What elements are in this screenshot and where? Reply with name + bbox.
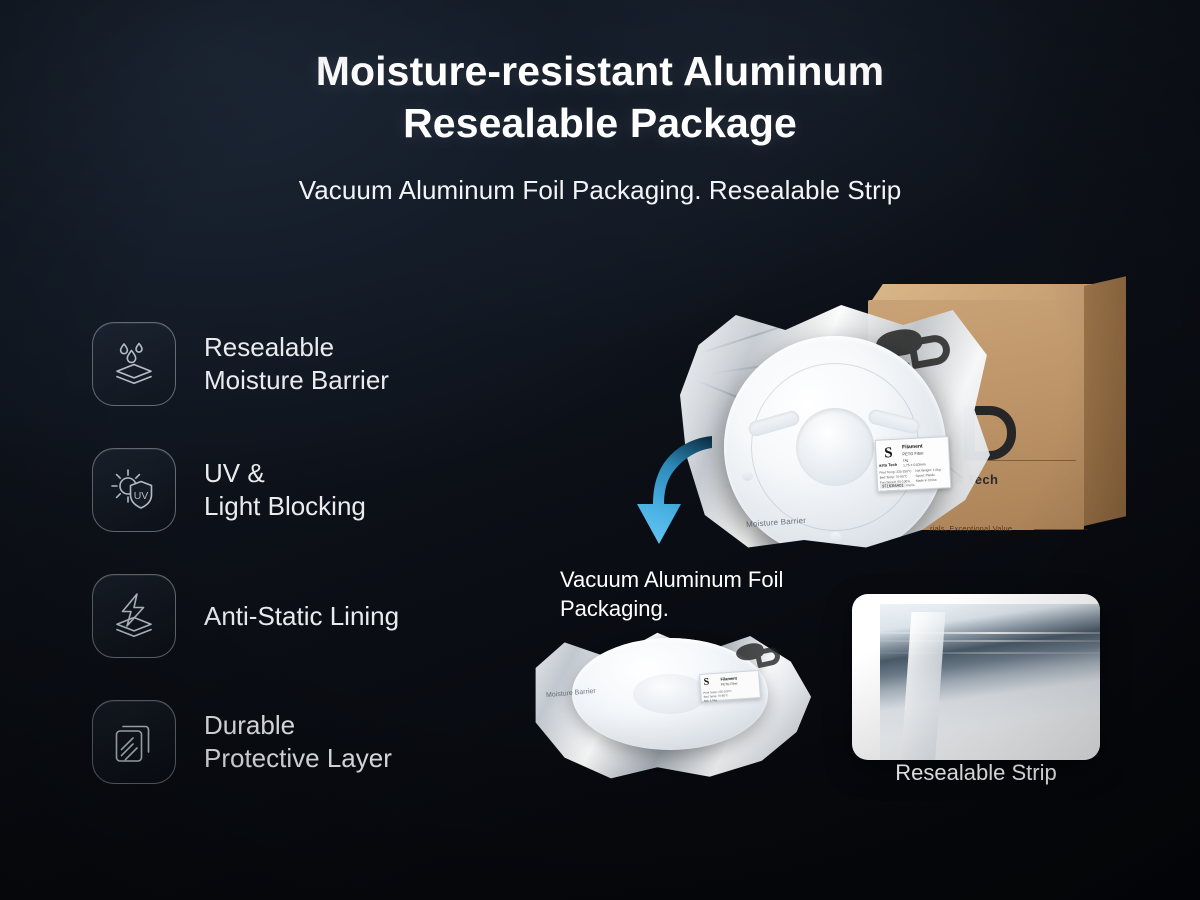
- bag-front-edge: [901, 612, 946, 760]
- vacuum-spool-hub: [633, 674, 707, 714]
- poster-canvas: Moisture-resistant Aluminum Resealable P…: [0, 0, 1200, 900]
- lightning-bolt-on-layers-icon: [92, 574, 176, 658]
- stacked-sheets-shine-icon: [92, 700, 176, 784]
- feature-label: UV & Light Blocking: [204, 457, 366, 523]
- title-line-1: Moisture-resistant Aluminum: [0, 46, 1200, 98]
- feature-item-moisture-barrier: Resealable Moisture Barrier: [92, 322, 512, 406]
- feature-item-uv-light-blocking: UV UV & Light Blocking: [92, 448, 512, 532]
- spool-product-label: S asta Tech Filament PETG Fiber 1kg 1.75…: [875, 436, 952, 492]
- feature-list: Resealable Moisture Barrier UV UV & Ligh…: [92, 322, 512, 784]
- feature-item-anti-static-lining: Anti-Static Lining: [92, 574, 512, 658]
- hero-product-photo: A Tech rials, Exceptional Value Tech: [672, 276, 1132, 576]
- title-line-2: Resealable Package: [0, 98, 1200, 150]
- label-brand: asta Tech: [879, 462, 897, 468]
- label-spec: 1.75 ± 0.03mm: [903, 462, 926, 467]
- resealable-strip-card: [852, 594, 1100, 760]
- label-weight: 1kg: [903, 458, 909, 462]
- label-title: Filament: [902, 443, 923, 450]
- feature-label: Durable Protective Layer: [204, 709, 392, 775]
- resealable-strip-caption: Resealable Strip: [852, 760, 1100, 786]
- vacuum-label-subtitle: PETG Fiber: [721, 681, 738, 686]
- feature-label: Resealable Moisture Barrier: [204, 331, 389, 397]
- curved-down-arrow: [626, 432, 716, 552]
- box-side-face: [1084, 276, 1126, 526]
- resealable-strip-photo: [880, 604, 1100, 760]
- vacuum-label-logo: S: [703, 677, 709, 687]
- vacuum-pack-caption: Vacuum Aluminum Foil Packaging.: [560, 566, 810, 623]
- feature-label: Anti-Static Lining: [204, 600, 399, 633]
- vacuum-foil-printed-logo: [734, 642, 782, 672]
- feature-item-durable-protective-layer: Durable Protective Layer: [92, 700, 512, 784]
- vacuum-pack-label: S Filament PETG Fiber Print Temp: 230-25…: [699, 670, 761, 702]
- vacuum-sealed-pack-photo: S Filament PETG Fiber Print Temp: 230-25…: [524, 620, 814, 780]
- label-logo: S: [880, 445, 897, 462]
- svg-text:UV: UV: [134, 490, 149, 502]
- spool-hub: [796, 408, 874, 486]
- page-title: Moisture-resistant Aluminum Resealable P…: [0, 46, 1200, 149]
- label-subtitle: PETG Fiber: [902, 450, 923, 456]
- aluminum-foil-bag: Tech S asta Tech Filament PETG Fiber 1kg…: [680, 300, 990, 550]
- sun-uv-shield-icon: UV: [92, 448, 176, 532]
- label-details-right: Net Weight: 1.0kg Spool: Plastic Made in…: [915, 468, 941, 484]
- box-tagline: rials, Exceptional Value: [930, 524, 1012, 533]
- page-subtitle: Vacuum Aluminum Foil Packaging. Resealab…: [0, 175, 1200, 206]
- header: Moisture-resistant Aluminum Resealable P…: [0, 46, 1200, 206]
- vacuum-label-details: Print Temp: 230-250°C Bed Temp: 70-80°C …: [703, 689, 732, 704]
- water-droplets-on-layers-icon: [92, 322, 176, 406]
